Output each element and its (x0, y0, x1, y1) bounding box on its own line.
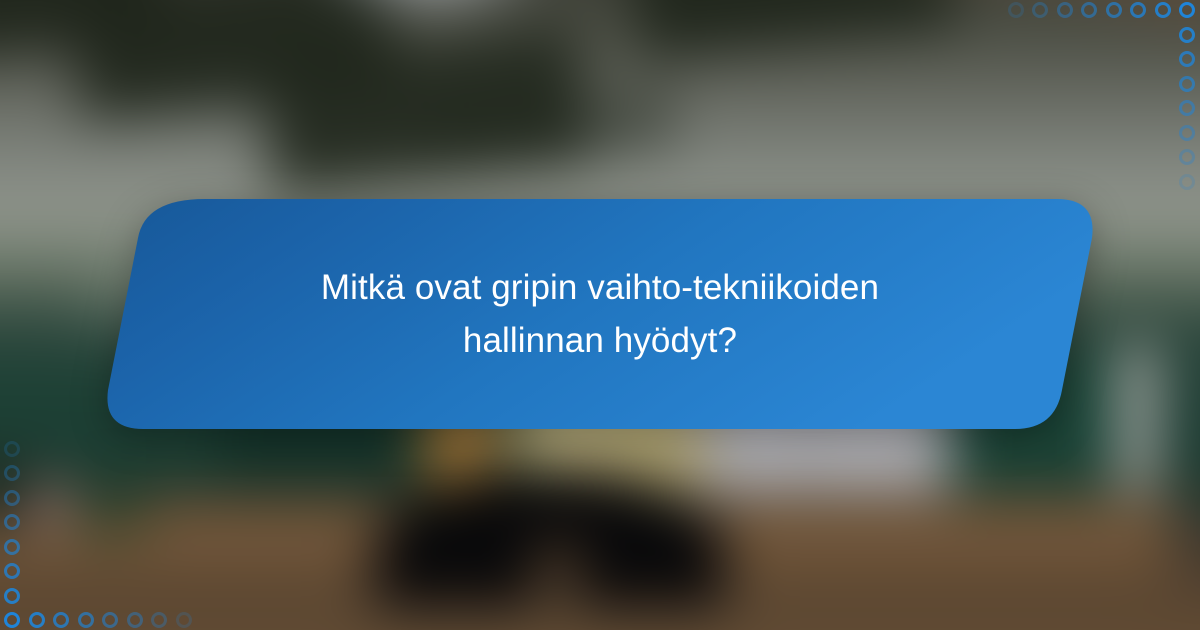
decorative-ring (1032, 2, 1048, 18)
decorative-ring (1081, 2, 1097, 18)
decorative-ring (78, 612, 94, 628)
question-card: Mitkä ovat gripin vaihto-tekniikoiden ha… (100, 199, 1100, 429)
decorative-ring (4, 563, 20, 579)
decorative-ring (1179, 125, 1195, 141)
decorative-ring (4, 490, 20, 506)
decorative-ring (4, 465, 20, 481)
ring-decoration-bottom-left (0, 420, 210, 630)
decorative-ring (4, 441, 20, 457)
decorative-ring (1179, 100, 1195, 116)
decorative-ring (176, 612, 192, 628)
decorative-ring (4, 612, 20, 628)
question-card-banner: Mitkä ovat gripin vaihto-tekniikoiden ha… (0, 0, 1200, 630)
ring-decoration-top-right (990, 0, 1200, 210)
decorative-ring (1179, 174, 1195, 190)
decorative-ring (151, 612, 167, 628)
decorative-ring (4, 539, 20, 555)
decorative-ring (1130, 2, 1146, 18)
decorative-ring (1008, 2, 1024, 18)
decorative-ring (102, 612, 118, 628)
decorative-ring (1179, 2, 1195, 18)
decorative-ring (1179, 149, 1195, 165)
decorative-ring (127, 612, 143, 628)
decorative-ring (53, 612, 69, 628)
decorative-ring (1106, 2, 1122, 18)
decorative-ring (29, 612, 45, 628)
decorative-ring (1179, 51, 1195, 67)
decorative-ring (1155, 2, 1171, 18)
decorative-ring (1179, 27, 1195, 43)
decorative-ring (1179, 76, 1195, 92)
decorative-ring (1057, 2, 1073, 18)
card-background-shape (100, 199, 1100, 429)
decorative-ring (4, 588, 20, 604)
decorative-ring (4, 514, 20, 530)
